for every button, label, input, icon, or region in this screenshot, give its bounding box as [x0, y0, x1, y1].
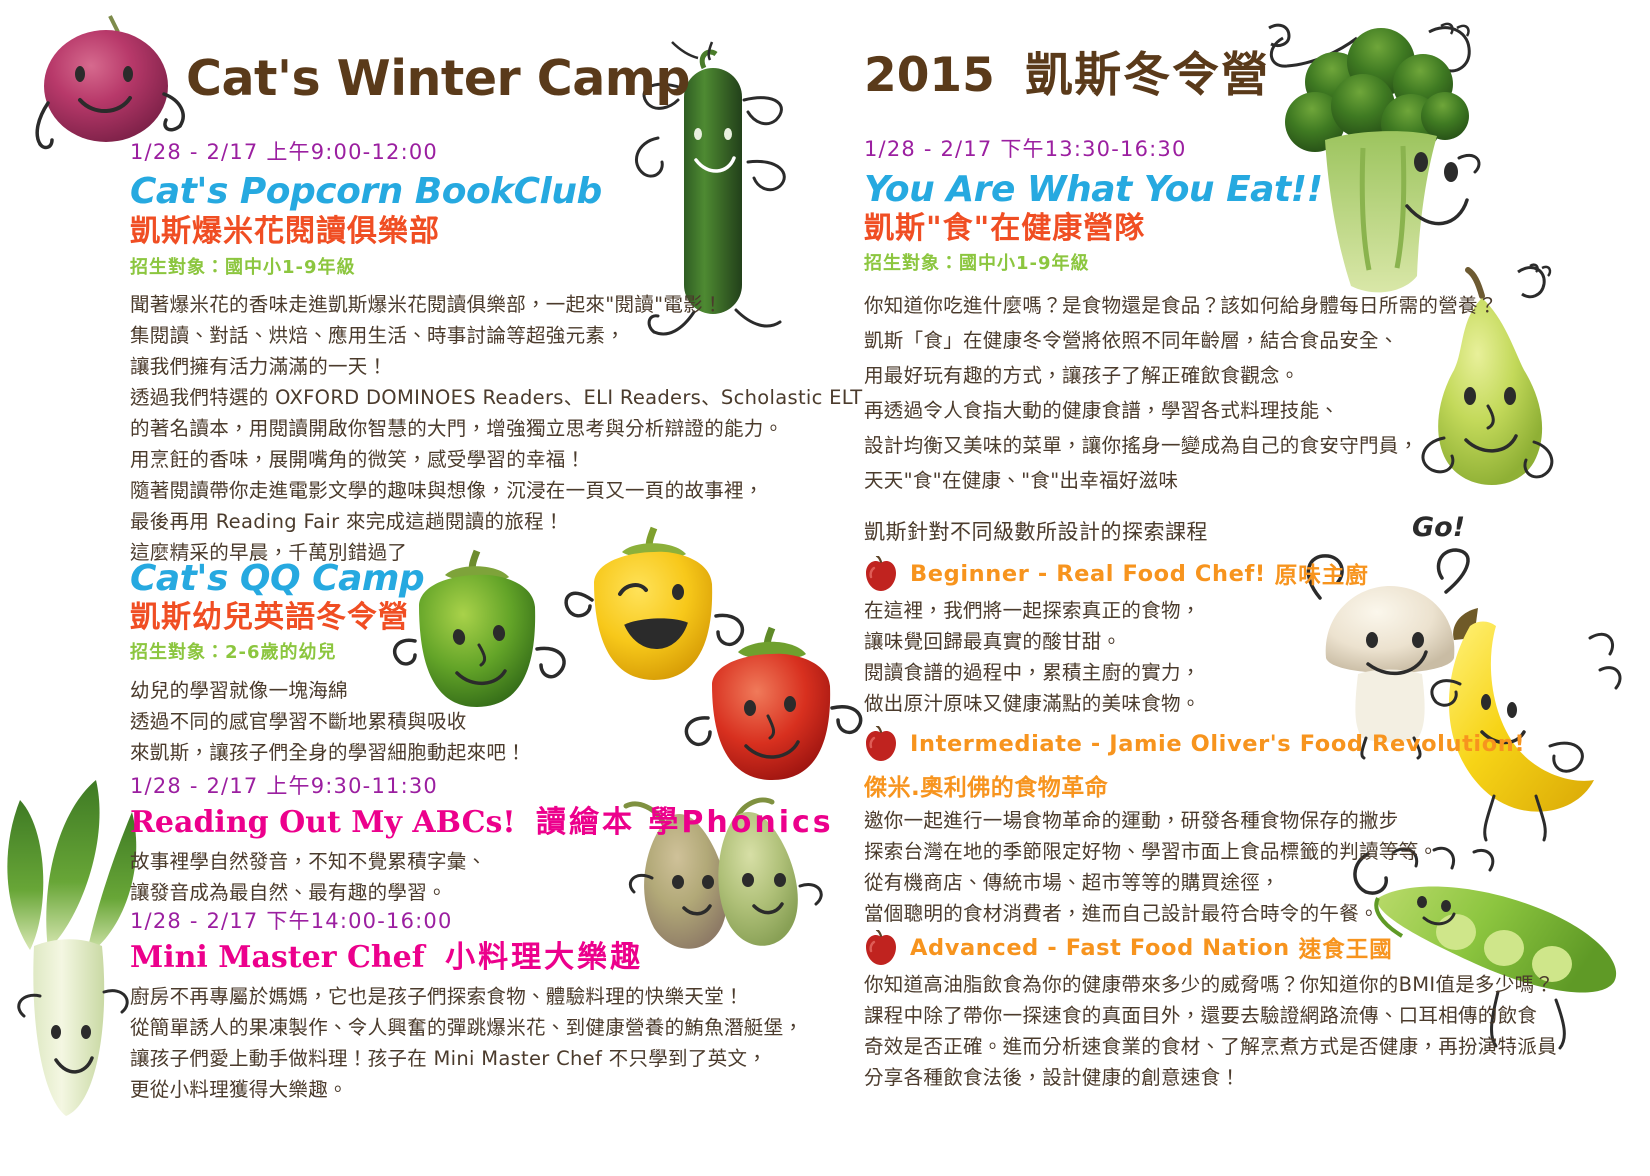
- section-body: 故事裡學自然發音，不知不覺累積字彙、 讓發音成為最自然、最有趣的學習。: [130, 846, 834, 908]
- course-title-cn: 讀繪本 學Phonics: [536, 805, 834, 840]
- section-body: 你知道你吃進什麼嗎？是食物還是食品？該如何給身體每日所需的營養？ 凱斯「食」在健…: [864, 288, 1498, 498]
- enrollment-target: 招生對象：2-6歲的幼兒: [130, 638, 526, 664]
- section-popcorn-bookclub: 1/28 - 2/17 上午9:00-12:00 Cat's Popcorn B…: [130, 136, 862, 568]
- level-body: 邀你一起進行一場食物革命的運動，研發各種食物保存的撇步 探索台灣在地的季節限定好…: [864, 805, 1525, 929]
- section-mini-master-chef: 1/28 - 2/17 下午14:00-16:00 Mini Master Ch…: [130, 905, 803, 1105]
- section-reading-abcs: 1/28 - 2/17 上午9:30-11:30 Reading Out My …: [130, 770, 834, 908]
- section-body: 廚房不再專屬於媽媽，它也是孩子們探索食物、體驗料理的快樂天堂！ 從簡單誘人的果凍…: [130, 981, 803, 1105]
- level-intermediate: Intermediate - Jamie Oliver's Food Revol…: [864, 726, 1525, 929]
- section-date: 1/28 - 2/17 下午13:30-16:30: [864, 133, 1498, 163]
- course-title-cn: 小料理大樂趣: [445, 940, 643, 975]
- section-date: 1/28 - 2/17 下午14:00-16:00: [130, 905, 803, 935]
- apple-icon: [864, 556, 898, 592]
- apple-icon: [864, 726, 898, 762]
- go-label: Go!: [1412, 512, 1465, 543]
- page-title-cn: 2015 凱斯冬令營: [864, 52, 1270, 99]
- level-title-en: Intermediate - Jamie Oliver's Food Revol…: [910, 731, 1525, 757]
- course-title-en: Reading Out My ABCs!: [130, 805, 516, 840]
- course-title-en: You Are What You Eat!!: [864, 171, 1498, 209]
- level-title-en: Beginner - Real Food Chef!: [910, 561, 1266, 587]
- section-body: 幼兒的學習就像一塊海綿 透過不同的感官學習不斷地累積與吸收 來凱斯，讓孩子們全身…: [130, 675, 526, 768]
- course-title-en: Mini Master Chef: [130, 940, 425, 975]
- level-title-cn: 速食王國: [1299, 932, 1393, 964]
- level-heading: Advanced - Fast Food Nation 速食王國: [864, 930, 1557, 966]
- enrollment-target: 招生對象：國中小1-9年級: [130, 253, 862, 279]
- course-title-cn: 凱斯幼兒英語冬令營: [130, 601, 526, 634]
- level-advanced: Advanced - Fast Food Nation 速食王國 你知道高油脂飲…: [864, 930, 1557, 1093]
- course-title-en: Cat's Popcorn BookClub: [130, 173, 862, 211]
- page-title-cn-text: 凱斯冬令營: [1025, 48, 1270, 103]
- section-body: 聞著爆米花的香味走進凱斯爆米花閱讀俱樂部，一起來"閱讀"電影！ 集閱讀、對話、烘…: [130, 289, 862, 568]
- section-date: 1/28 - 2/17 上午9:00-12:00: [130, 136, 862, 166]
- page-title-en: Cat's Winter Camp: [186, 54, 690, 103]
- level-body: 在這裡，我們將一起探索真正的食物， 讓味覺回歸最真實的酸甘甜。 閱讀食譜的過程中…: [864, 595, 1369, 719]
- levels-lead-text: 凱斯針對不同級數所設計的探索課程: [864, 516, 1208, 546]
- apple-icon: [864, 930, 898, 966]
- course-title-pink: Reading Out My ABCs! 讀繪本 學Phonics: [130, 806, 834, 839]
- section-qq-camp: Cat's QQ Camp 凱斯幼兒英語冬令營 招生對象：2-6歲的幼兒 幼兒的…: [130, 560, 526, 768]
- course-title-cn: 凱斯爆米花閱讀俱樂部: [130, 215, 862, 248]
- course-title-pink: Mini Master Chef 小料理大樂趣: [130, 941, 803, 974]
- level-body: 你知道高油脂飲食為你的健康帶來多少的威脅嗎？你知道你的BMI值是多少嗎？ 課程中…: [864, 969, 1557, 1093]
- level-heading: Beginner - Real Food Chef! 原味主廚: [864, 556, 1369, 592]
- level-title-cn: 原味主廚: [1275, 558, 1369, 590]
- page-title-year: 2015: [864, 48, 995, 103]
- section-date: 1/28 - 2/17 上午9:30-11:30: [130, 770, 834, 800]
- enrollment-target: 招生對象：國中小1-9年級: [864, 249, 1498, 275]
- level-beginner: Beginner - Real Food Chef! 原味主廚 在這裡，我們將一…: [864, 556, 1369, 719]
- flyer-page: Go!: [0, 0, 1650, 1176]
- section-you-are-what-you-eat: 1/28 - 2/17 下午13:30-16:30 You Are What Y…: [864, 133, 1498, 498]
- level-subtitle-cn: 傑米.奧利佛的食物革命: [864, 768, 1525, 802]
- level-title-en: Advanced - Fast Food Nation: [910, 935, 1290, 961]
- level-heading: Intermediate - Jamie Oliver's Food Revol…: [864, 726, 1525, 762]
- course-title-en: Cat's QQ Camp: [130, 560, 526, 598]
- course-title-cn: 凱斯"食"在健康營隊: [864, 212, 1498, 245]
